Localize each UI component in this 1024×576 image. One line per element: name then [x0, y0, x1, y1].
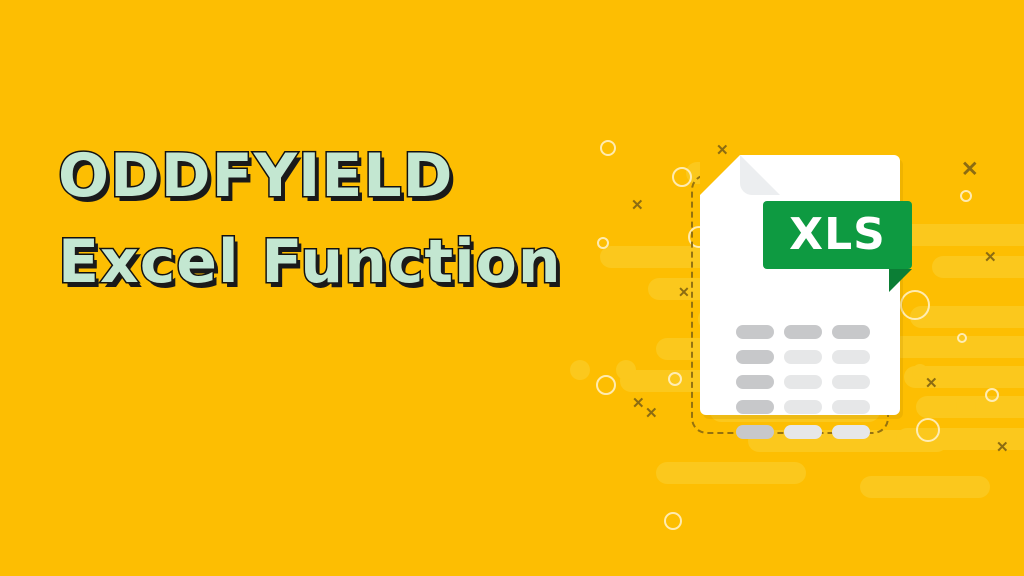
xls-badge-label: XLS — [789, 213, 886, 257]
spreadsheet-cell — [784, 375, 822, 389]
spreadsheet-cell — [784, 400, 822, 414]
spreadsheet-cell — [832, 325, 870, 339]
spreadsheet-cell — [736, 375, 774, 389]
spreadsheet-cell-grid — [736, 325, 868, 439]
spreadsheet-cell — [736, 425, 774, 439]
xls-badge-tail — [889, 269, 912, 292]
spreadsheet-cell — [832, 400, 870, 414]
spreadsheet-cell — [784, 350, 822, 364]
spreadsheet-cell — [832, 350, 870, 364]
spreadsheet-cell — [784, 325, 822, 339]
spreadsheet-cell — [832, 425, 870, 439]
title-line-function-name: ODDFYIELD — [58, 146, 578, 206]
spreadsheet-cell — [832, 375, 870, 389]
spreadsheet-cell — [784, 425, 822, 439]
xls-badge: XLS — [763, 201, 912, 269]
poster-canvas: ✕ ✕ ✕ ✕ ✕ ✕ ✕ ✕ ✕ ✕ ✕ ODDFYIELD Excel Fu… — [0, 0, 1024, 576]
xls-document-illustration: XLS — [560, 100, 1024, 480]
title-line-subtitle: Excel Function — [58, 232, 578, 292]
spreadsheet-cell — [736, 400, 774, 414]
page-title: ODDFYIELD Excel Function — [58, 146, 578, 292]
spreadsheet-cell — [736, 350, 774, 364]
decor-ring — [664, 512, 682, 530]
spreadsheet-cell — [736, 325, 774, 339]
